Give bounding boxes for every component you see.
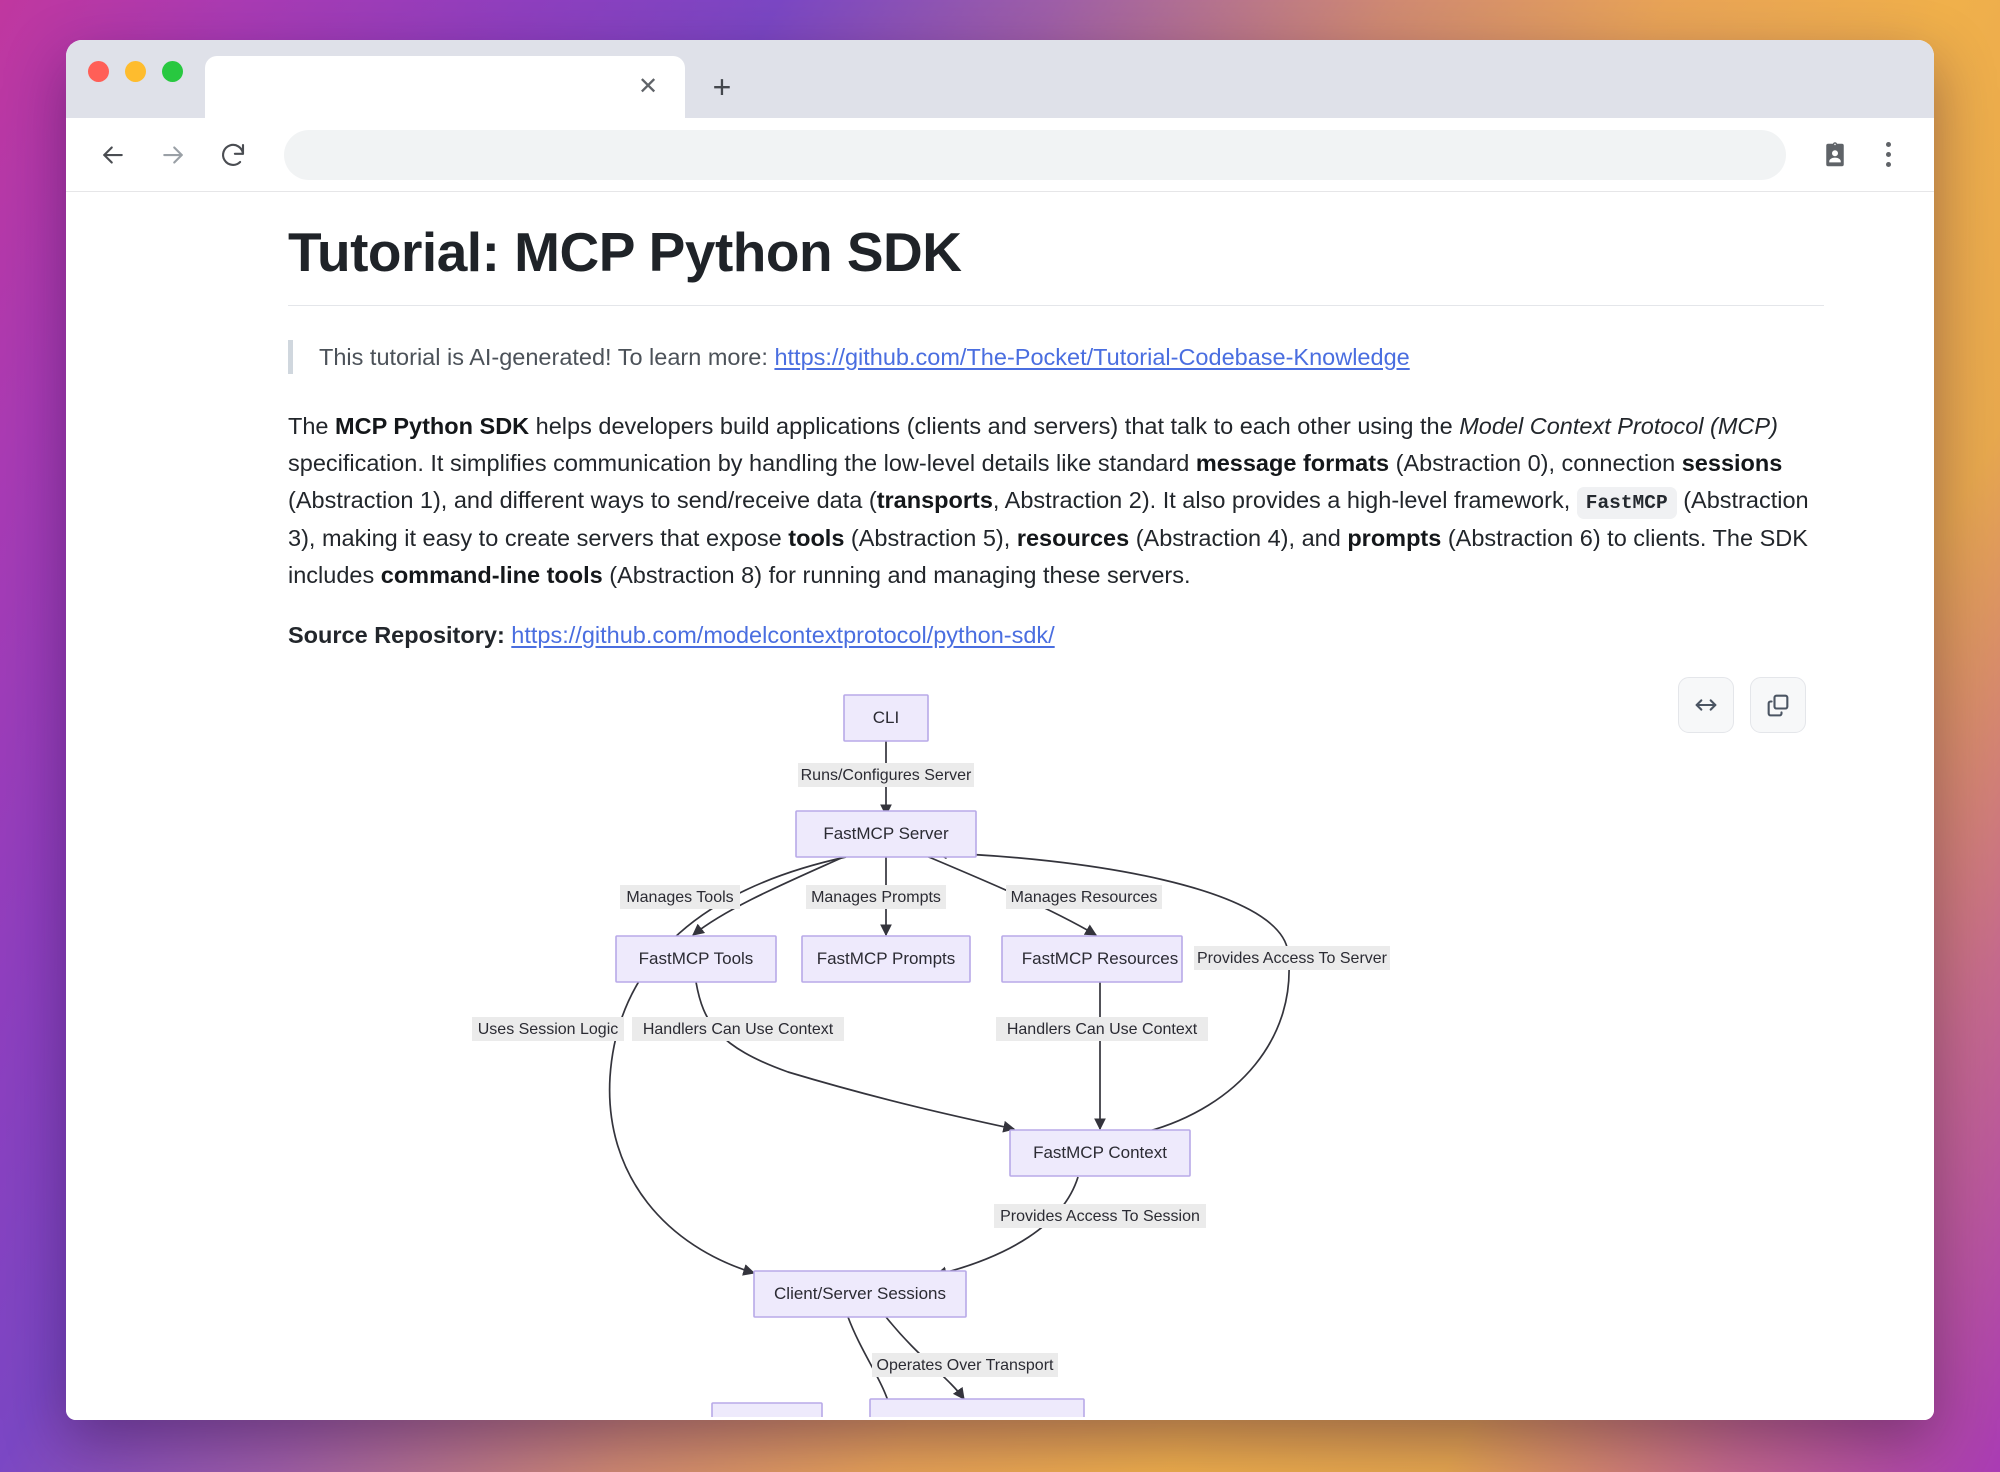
source-repository-line: Source Repository: https://github.com/mo… <box>288 622 1824 649</box>
term-prompts: prompts <box>1347 525 1441 551</box>
intro-text-11: (Abstraction 8) for running and managing… <box>603 562 1191 588</box>
node-label-prompts: FastMCP Prompts <box>817 949 956 968</box>
source-repository-link[interactable]: https://github.com/modelcontextprotocol/… <box>511 622 1054 648</box>
tutorial-source-link[interactable]: https://github.com/The-Pocket/Tutorial-C… <box>774 344 1409 370</box>
mermaid-diagram: CLI FastMCP Server FastMCP Tools <box>288 677 1824 1417</box>
minimize-window-button[interactable] <box>125 61 146 82</box>
node-label-resources: FastMCP Resources <box>1022 949 1179 968</box>
edge-label-runs-configures: Runs/Configures Server <box>798 763 974 787</box>
browser-window: ✕ + <box>66 40 1934 1420</box>
maximize-window-button[interactable] <box>162 61 183 82</box>
term-resources: resources <box>1017 525 1129 551</box>
horizontal-resize-icon[interactable] <box>1678 677 1734 733</box>
copy-icon[interactable] <box>1750 677 1806 733</box>
close-window-button[interactable] <box>88 61 109 82</box>
edge-label-handlers-context-right: Handlers Can Use Context <box>996 1017 1208 1041</box>
edge-label-provides-access-session: Provides Access To Session <box>994 1204 1206 1228</box>
diagram-container: CLI FastMCP Server FastMCP Tools <box>288 677 1824 1417</box>
diagram-node-tools[interactable]: FastMCP Tools <box>616 936 776 982</box>
term-sessions: sessions <box>1682 450 1783 476</box>
diagram-node-cli[interactable]: CLI <box>844 695 928 741</box>
intro-text-1: The <box>288 413 335 439</box>
intro-paragraph: The MCP Python SDK helps developers buil… <box>288 408 1824 595</box>
edge-label-manages-tools: Manages Tools <box>620 885 740 909</box>
node-label-tools: FastMCP Tools <box>639 949 754 968</box>
edge-label-uses-session-logic: Uses Session Logic <box>472 1017 624 1041</box>
page-viewport: Tutorial: MCP Python SDK This tutorial i… <box>66 192 1934 1420</box>
page-content: Tutorial: MCP Python SDK This tutorial i… <box>66 222 1934 1417</box>
intro-text-6: , Abstraction 2). It also provides a hig… <box>993 487 1577 513</box>
diagram-node-transport[interactable] <box>870 1399 1084 1417</box>
edge-label-text-manages-prompts: Manages Prompts <box>811 889 941 906</box>
intro-text-4: (Abstraction 0), connection <box>1389 450 1682 476</box>
callout-prefix: This tutorial is AI-generated! To learn … <box>319 344 774 370</box>
edge-label-provides-access-server: Provides Access To Server <box>1194 946 1390 970</box>
forward-arrow-icon[interactable] <box>148 130 198 180</box>
reload-icon[interactable] <box>208 130 258 180</box>
page-title: Tutorial: MCP Python SDK <box>288 222 1824 306</box>
intro-text-3: specification. It simplifies communicati… <box>288 450 1196 476</box>
kebab-menu-icon[interactable] <box>1868 132 1908 178</box>
callout-text: This tutorial is AI-generated! To learn … <box>319 340 1824 374</box>
diagram-node-context[interactable]: FastMCP Context <box>1010 1130 1190 1176</box>
code-fastmcp: FastMCP <box>1577 487 1677 519</box>
intro-text-5: (Abstraction 1), and different ways to s… <box>288 487 877 513</box>
edge-label-manages-prompts: Manages Prompts <box>806 885 946 909</box>
node-label-cli: CLI <box>873 708 899 727</box>
edge-label-text-handlers-context-right: Handlers Can Use Context <box>1007 1021 1198 1038</box>
diagram-node-sessions[interactable]: Client/Server Sessions <box>754 1271 966 1317</box>
node-label-server: FastMCP Server <box>823 824 949 843</box>
term-transports: transports <box>877 487 993 513</box>
diagram-node-server[interactable]: FastMCP Server <box>796 811 976 857</box>
close-tab-icon[interactable]: ✕ <box>633 72 663 102</box>
edge-label-text-handlers-context-left: Handlers Can Use Context <box>643 1021 834 1038</box>
edge-label-text-operates-over-transport: Operates Over Transport <box>877 1357 1055 1374</box>
source-repository-label: Source Repository: <box>288 622 511 648</box>
intro-text-8: (Abstraction 5), <box>844 525 1016 551</box>
term-model-context-protocol: Model Context Protocol (MCP) <box>1459 413 1778 439</box>
term-mcp-python-sdk: MCP Python SDK <box>335 413 529 439</box>
edge-server-sessions <box>610 857 846 1273</box>
back-arrow-icon[interactable] <box>88 130 138 180</box>
intro-text-2: helps developers build applications (cli… <box>529 413 1459 439</box>
edge-label-text-provides-access-server: Provides Access To Server <box>1197 950 1388 967</box>
node-label-context: FastMCP Context <box>1033 1143 1167 1162</box>
edge-tools-context <box>696 982 1014 1129</box>
diagram-svg: CLI FastMCP Server FastMCP Tools <box>288 677 1824 1417</box>
edge-label-text-provides-access-session: Provides Access To Session <box>1000 1208 1200 1225</box>
ai-generated-callout: This tutorial is AI-generated! To learn … <box>288 340 1824 374</box>
address-bar[interactable] <box>284 130 1786 180</box>
edge-label-text-uses-session-logic: Uses Session Logic <box>478 1021 619 1038</box>
traffic-lights <box>88 40 205 118</box>
edge-label-operates-over-transport: Operates Over Transport <box>872 1353 1058 1377</box>
diagram-node-bottom-left[interactable] <box>712 1403 822 1417</box>
profile-card-icon[interactable] <box>1812 132 1858 178</box>
browser-toolbar <box>66 118 1934 192</box>
edge-label-text-manages-resources: Manages Resources <box>1011 889 1158 906</box>
term-message-formats: message formats <box>1196 450 1389 476</box>
term-command-line-tools: command-line tools <box>381 562 603 588</box>
browser-tab[interactable]: ✕ <box>205 56 685 118</box>
diagram-node-resources[interactable]: FastMCP Resources <box>1002 936 1182 982</box>
edge-label-manages-resources: Manages Resources <box>1006 885 1162 909</box>
tab-strip: ✕ + <box>66 40 1934 118</box>
edge-label-text-manages-tools: Manages Tools <box>626 889 733 906</box>
edge-label-handlers-context-left: Handlers Can Use Context <box>632 1017 844 1041</box>
intro-text-9: (Abstraction 4), and <box>1129 525 1347 551</box>
new-tab-button[interactable]: + <box>699 64 745 110</box>
diagram-node-prompts[interactable]: FastMCP Prompts <box>802 936 970 982</box>
edge-label-text-runs-configures: Runs/Configures Server <box>801 767 972 784</box>
node-label-sessions: Client/Server Sessions <box>774 1284 946 1303</box>
term-tools: tools <box>788 525 844 551</box>
diagram-toolbar <box>1678 677 1806 733</box>
